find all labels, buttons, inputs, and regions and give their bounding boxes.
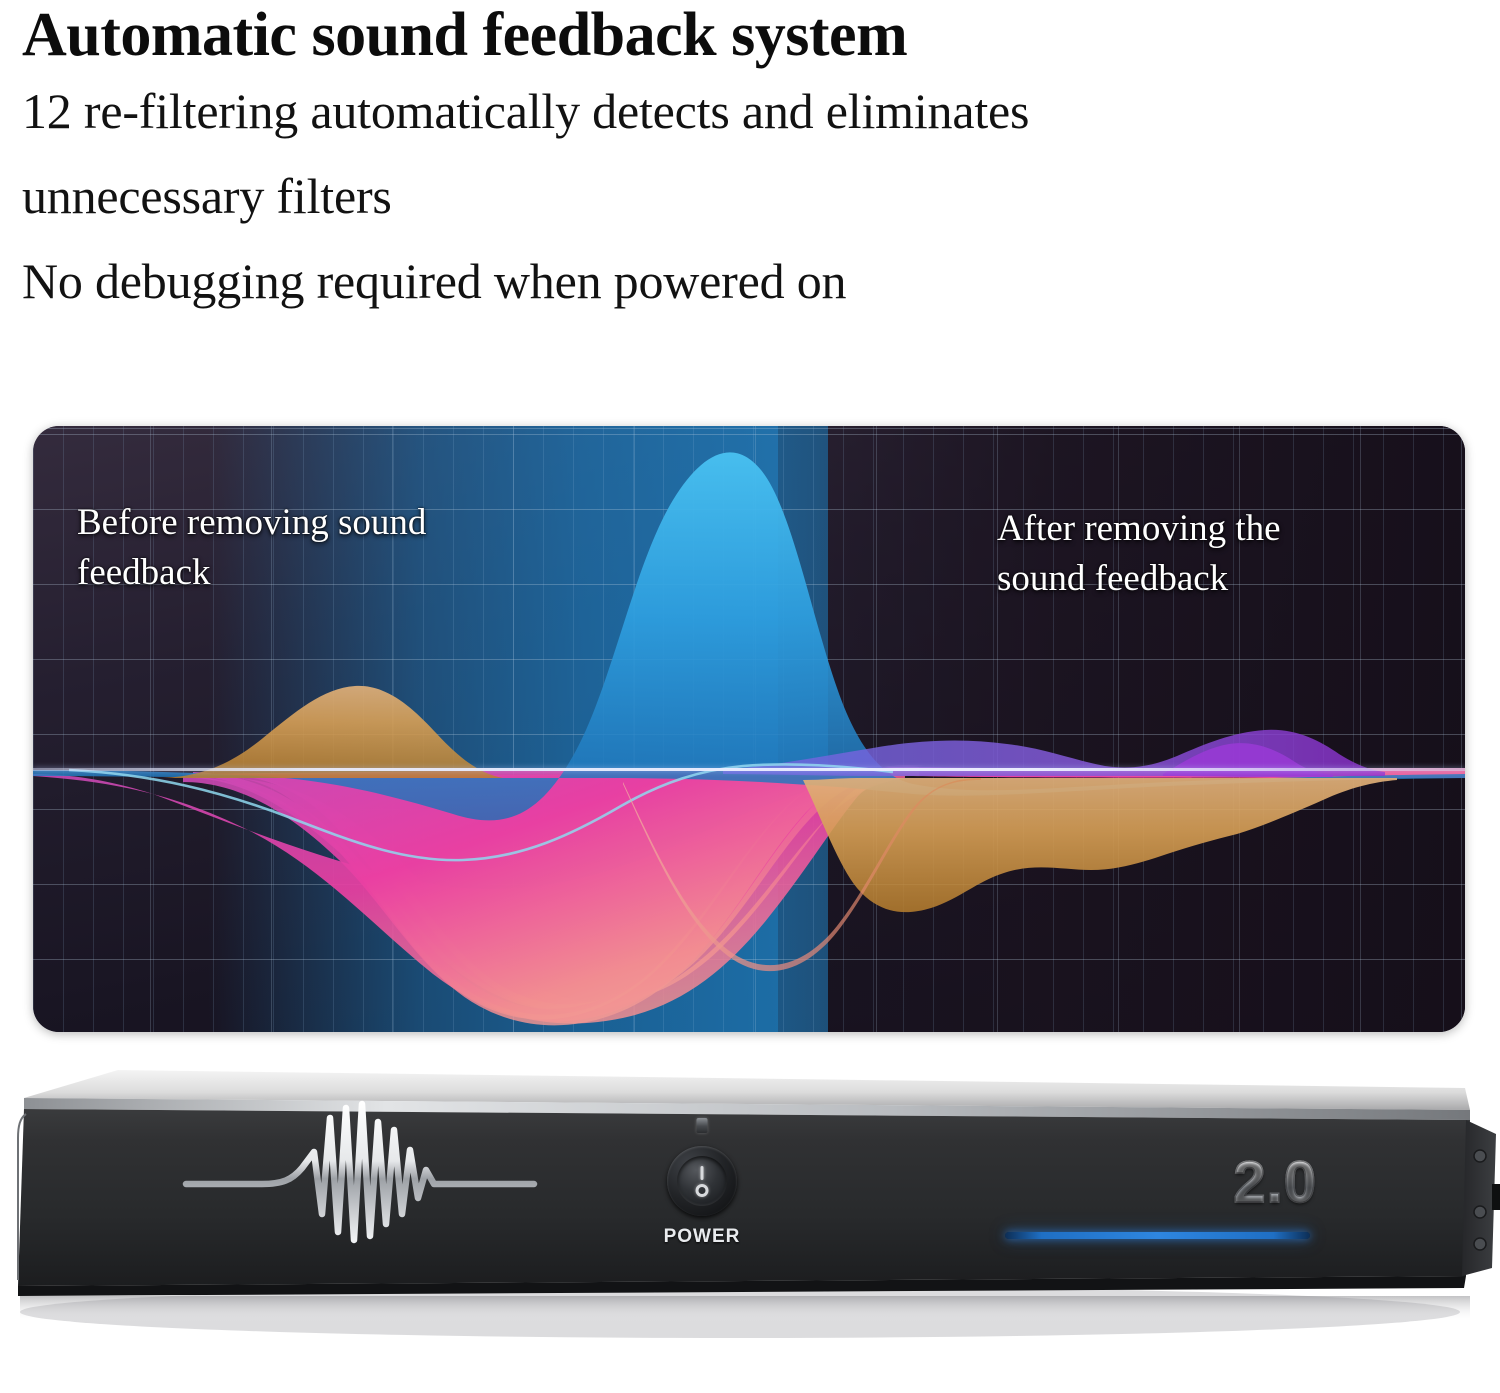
power-label: POWER (664, 1226, 741, 1248)
feature-line-2: unnecessary filters (22, 154, 1442, 239)
status-led-strip (1005, 1232, 1310, 1239)
rear-port-slot (1492, 1184, 1500, 1210)
rack-screw-bottom (1474, 1238, 1486, 1250)
marketing-copy-block: Automatic sound feedback system 12 re-fi… (22, 2, 1442, 324)
label-before-removing: Before removing sound feedback (77, 498, 547, 597)
power-indicator-led (697, 1118, 708, 1133)
waveform-comparison-panel: Before removing sound feedback After rem… (33, 426, 1465, 1032)
device-shadow-band (20, 1296, 1470, 1322)
feature-line-1: 12 re-filtering automatically detects an… (22, 69, 1442, 154)
feature-line-3: No debugging required when powered on (22, 239, 1442, 324)
page-title: Automatic sound feedback system (22, 2, 1442, 69)
device-right-face (1462, 1120, 1496, 1276)
product-feature-image: Automatic sound feedback system 12 re-fi… (0, 0, 1500, 1393)
version-group: 2.0 (1005, 1154, 1325, 1264)
label-after-removing: After removing the sound feedback (997, 504, 1377, 603)
device-photo: POWER 2.0 (0, 1064, 1500, 1393)
rack-screw-top (1474, 1150, 1486, 1162)
wave-orange-resonance (163, 686, 503, 778)
power-rocker-button[interactable] (677, 1156, 727, 1206)
power-off-symbol-icon (696, 1184, 709, 1197)
power-rocker-bezel[interactable] (667, 1146, 737, 1216)
version-label: 2.0 (1233, 1154, 1317, 1212)
zero-axis-line (33, 768, 1465, 771)
rack-screw-middle (1474, 1206, 1486, 1218)
power-on-symbol-icon (701, 1166, 704, 1180)
power-switch-group[interactable]: POWER (641, 1118, 763, 1268)
